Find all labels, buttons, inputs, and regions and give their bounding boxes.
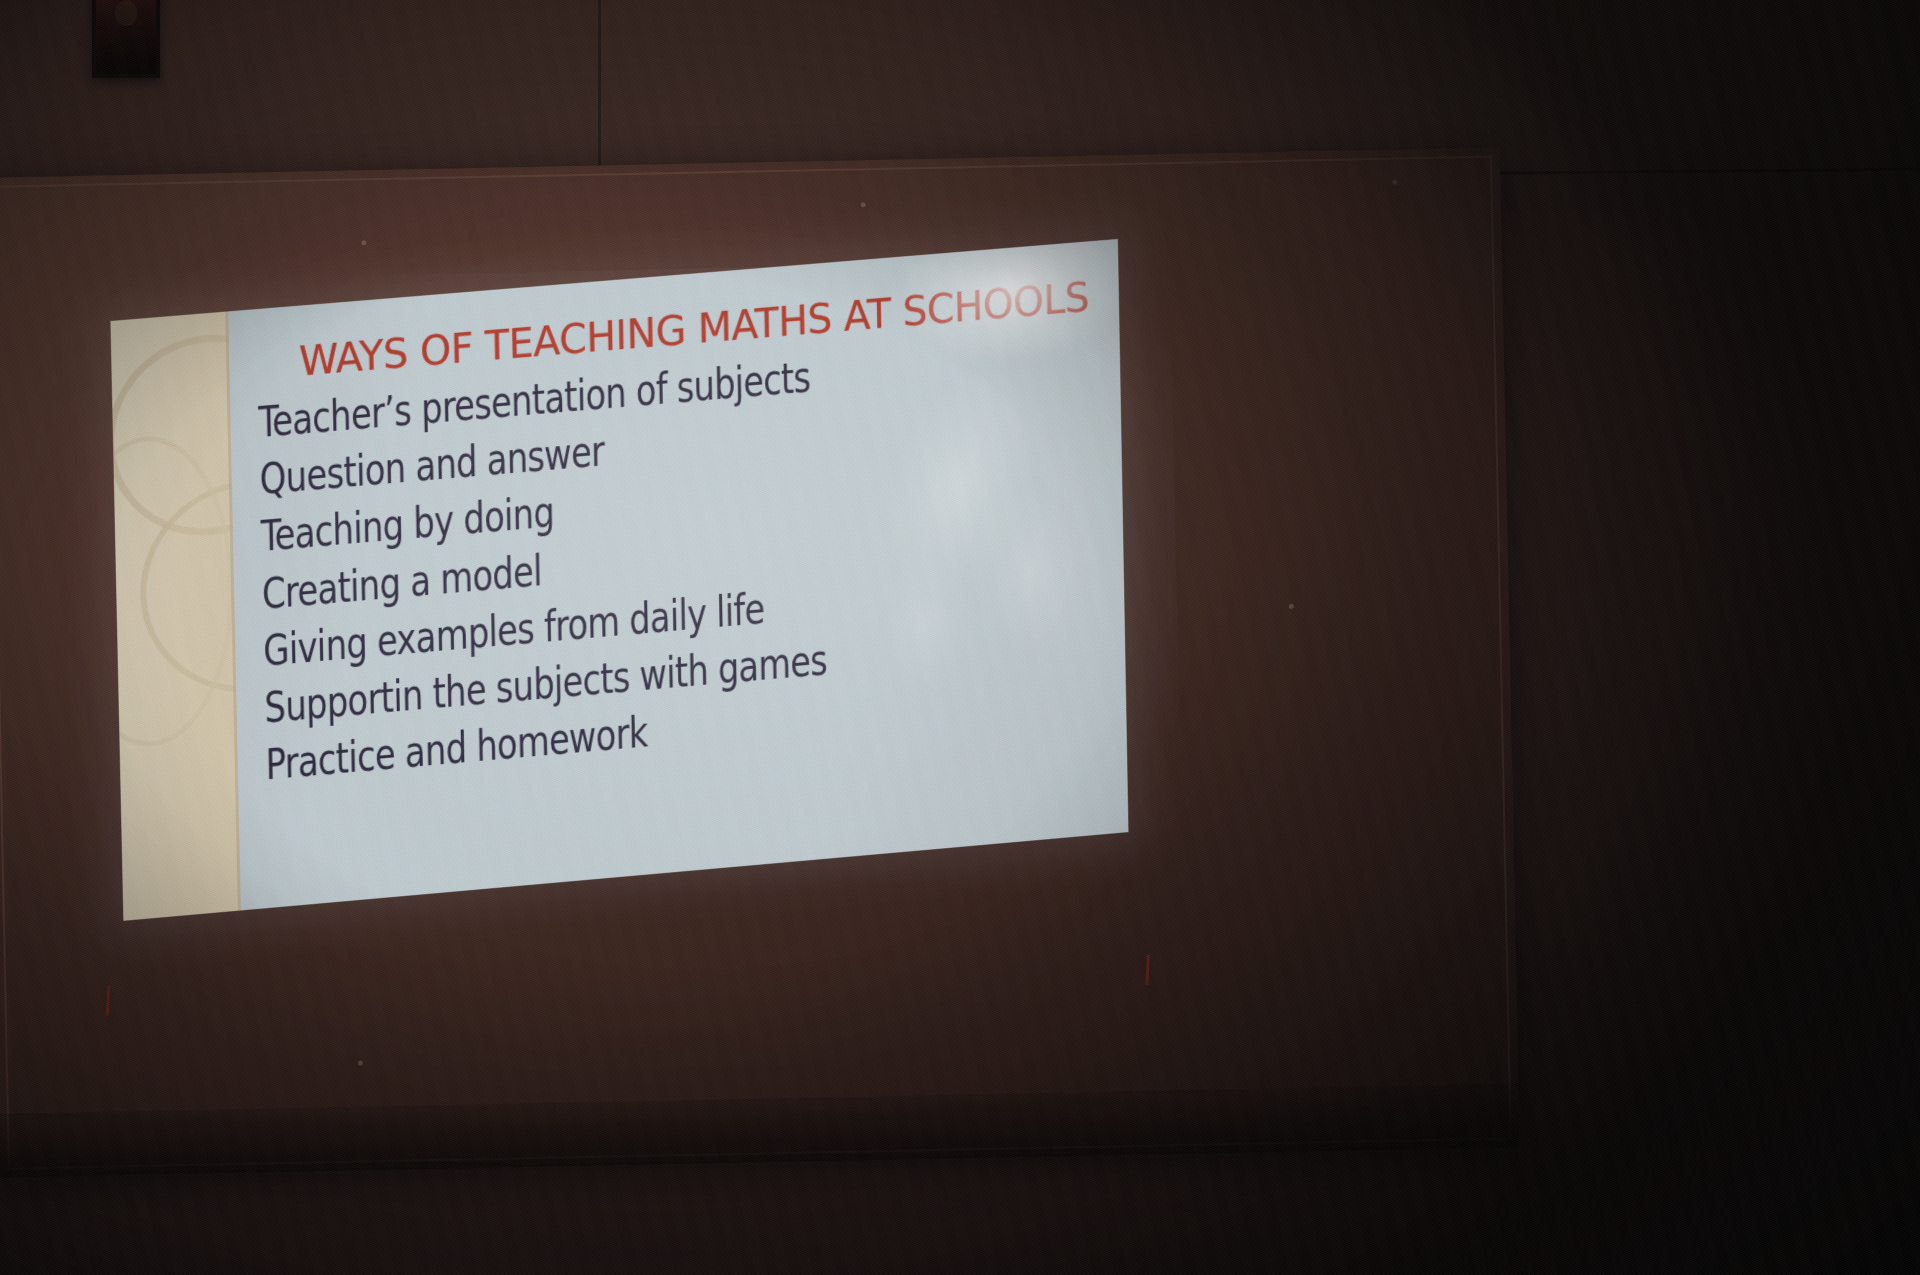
presentation-slide: WAYS OF TEACHING MATHS AT SCHOOLS Teache… bbox=[110, 239, 1128, 921]
slide-bullet-list: Teacher’s presentation of subjects Quest… bbox=[258, 327, 1097, 795]
framed-portrait bbox=[92, 0, 160, 78]
slide-content-area: WAYS OF TEACHING MATHS AT SCHOOLS Teache… bbox=[228, 239, 1128, 911]
photo-stage: WAYS OF TEACHING MATHS AT SCHOOLS Teache… bbox=[0, 0, 1920, 1275]
board-screw-icon bbox=[1392, 180, 1397, 185]
slide-sidebar-decoration bbox=[110, 311, 240, 920]
portrait-shadow-overlay bbox=[96, 0, 156, 74]
board-screw-icon bbox=[358, 1060, 363, 1065]
board-screw-icon bbox=[861, 202, 866, 207]
projected-slide-region: WAYS OF TEACHING MATHS AT SCHOOLS Teache… bbox=[110, 299, 1143, 921]
board-screw-icon bbox=[1289, 604, 1294, 609]
board-screw-icon bbox=[361, 240, 366, 245]
whiteboard: WAYS OF TEACHING MATHS AT SCHOOLS Teache… bbox=[0, 147, 1520, 1177]
